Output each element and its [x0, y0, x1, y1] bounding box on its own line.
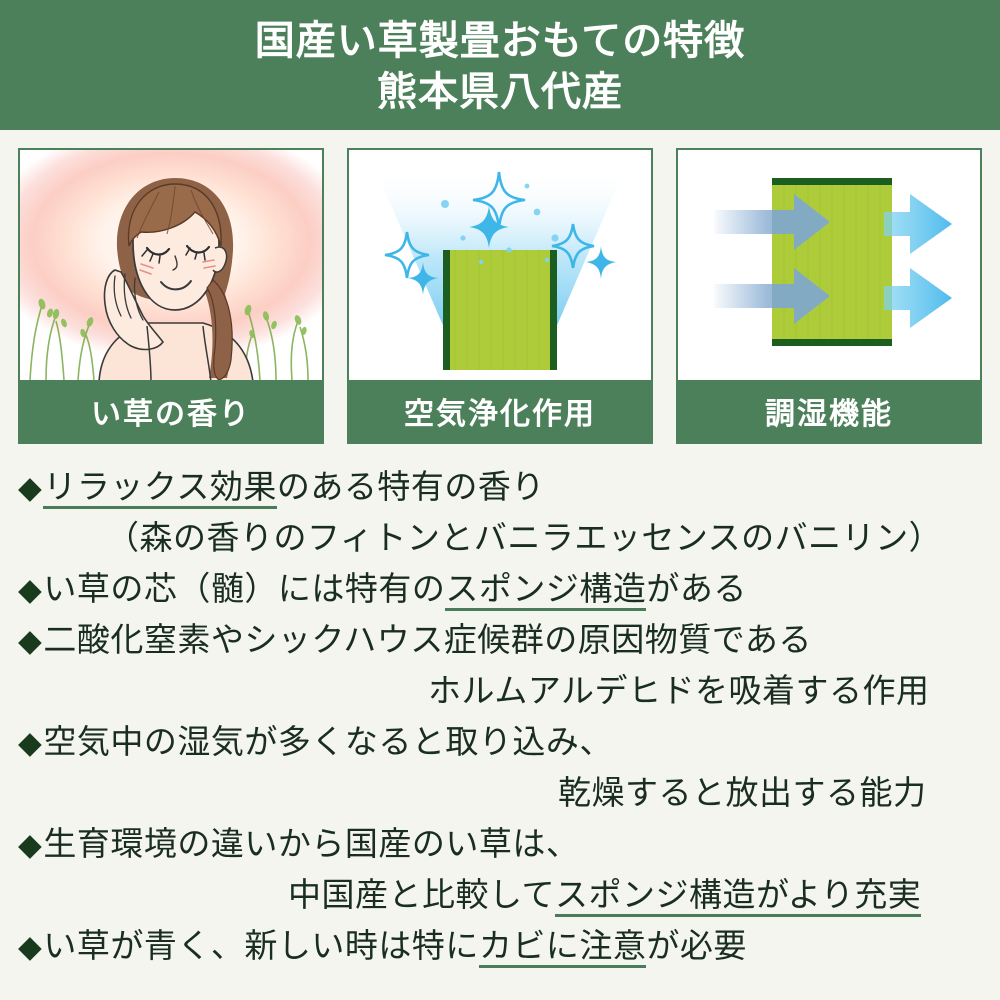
card-caption-air-purification: 空気浄化作用 — [349, 380, 651, 442]
bullet-text: 空気中の湿気が多くなると取り込み、 — [43, 723, 613, 760]
card-caption-humidity-control: 調湿機能 — [678, 380, 980, 442]
diamond-bullet-icon: ◆ — [18, 470, 42, 505]
bullet-text: い草の芯（髄）には特有の — [43, 570, 445, 607]
feature-card-scent: い草の香り — [18, 148, 324, 444]
header-title-line1: 国産い草製畳おもての特徴 — [255, 16, 745, 67]
highlighted-text: カビに注意 — [479, 927, 647, 968]
bullet-line: ◆リラックス効果のある特有の香り — [18, 462, 982, 513]
feature-card-humidity-control: 調湿機能 — [676, 148, 982, 444]
feature-card-air-purification: 空気浄化作用 — [347, 148, 653, 444]
bullet-text: ホルムアルデヒドを吸着する作用 — [428, 672, 930, 709]
bullet-line: ◆い草の芯（髄）には特有のスポンジ構造がある — [18, 564, 982, 615]
relaxing-woman-icon — [63, 164, 279, 380]
infographic-page: 国産い草製畳おもての特徴 熊本県八代産 — [0, 0, 1000, 1000]
bullet-continuation-line: 乾燥すると放出する能力 — [18, 768, 982, 819]
bullet-line: ◆生育環境の違いから国産のい草は、 — [18, 819, 982, 870]
bullet-continuation-line: ホルムアルデヒドを吸着する作用 — [18, 666, 982, 717]
page-header: 国産い草製畳おもての特徴 熊本県八代産 — [0, 0, 1000, 130]
diamond-bullet-icon: ◆ — [18, 929, 42, 964]
bullet-continuation-line: 中国産と比較してスポンジ構造がより充実 — [18, 870, 982, 921]
highlighted-text: スポンジ構造 — [445, 570, 646, 611]
bullet-text: 二酸化窒素やシックハウス症候群の原因物質である — [43, 621, 812, 658]
card-caption-scent: い草の香り — [20, 380, 322, 442]
diamond-bullet-icon: ◆ — [18, 725, 42, 760]
feature-bullet-list: ◆リラックス効果のある特有の香り（森の香りのフィトンとバニラエッセンスのバニリン… — [0, 462, 1000, 972]
bullet-line: ◆二酸化窒素やシックハウス症候群の原因物質である — [18, 615, 982, 666]
bullet-text: 生育環境の違いから国産のい草は、 — [43, 825, 579, 862]
bullet-text: い草が青く、新しい時は特に — [43, 927, 479, 964]
bullet-text: が必要 — [646, 927, 747, 964]
air-purification-illustration — [349, 150, 651, 380]
diamond-bullet-icon: ◆ — [18, 827, 42, 862]
scent-illustration — [20, 150, 322, 380]
airflow-arrows-icon — [678, 150, 980, 380]
bullet-text: 中国産と比較して — [288, 876, 555, 913]
feature-card-row: い草の香り — [0, 148, 1000, 448]
diamond-bullet-icon: ◆ — [18, 572, 42, 607]
bullet-line: ◆空気中の湿気が多くなると取り込み、 — [18, 717, 982, 768]
diamond-bullet-icon: ◆ — [18, 623, 42, 658]
bullet-text: 乾燥すると放出する能力 — [558, 774, 927, 811]
header-title-line2: 熊本県八代産 — [377, 67, 623, 118]
bullet-text: のある特有の香り — [277, 468, 545, 505]
bullet-text: （森の香りのフィトンとバニラエッセンスのバニリン） — [106, 519, 942, 556]
highlighted-text: スポンジ構造がより充実 — [555, 876, 921, 917]
sparkles-icon — [349, 150, 651, 380]
humidity-control-illustration — [678, 150, 980, 380]
bullet-text: がある — [646, 570, 747, 607]
highlighted-text: リラックス効果 — [43, 468, 277, 509]
bullet-line: ◆い草が青く、新しい時は特にカビに注意が必要 — [18, 921, 982, 972]
bullet-continuation-line: （森の香りのフィトンとバニラエッセンスのバニリン） — [18, 513, 982, 564]
